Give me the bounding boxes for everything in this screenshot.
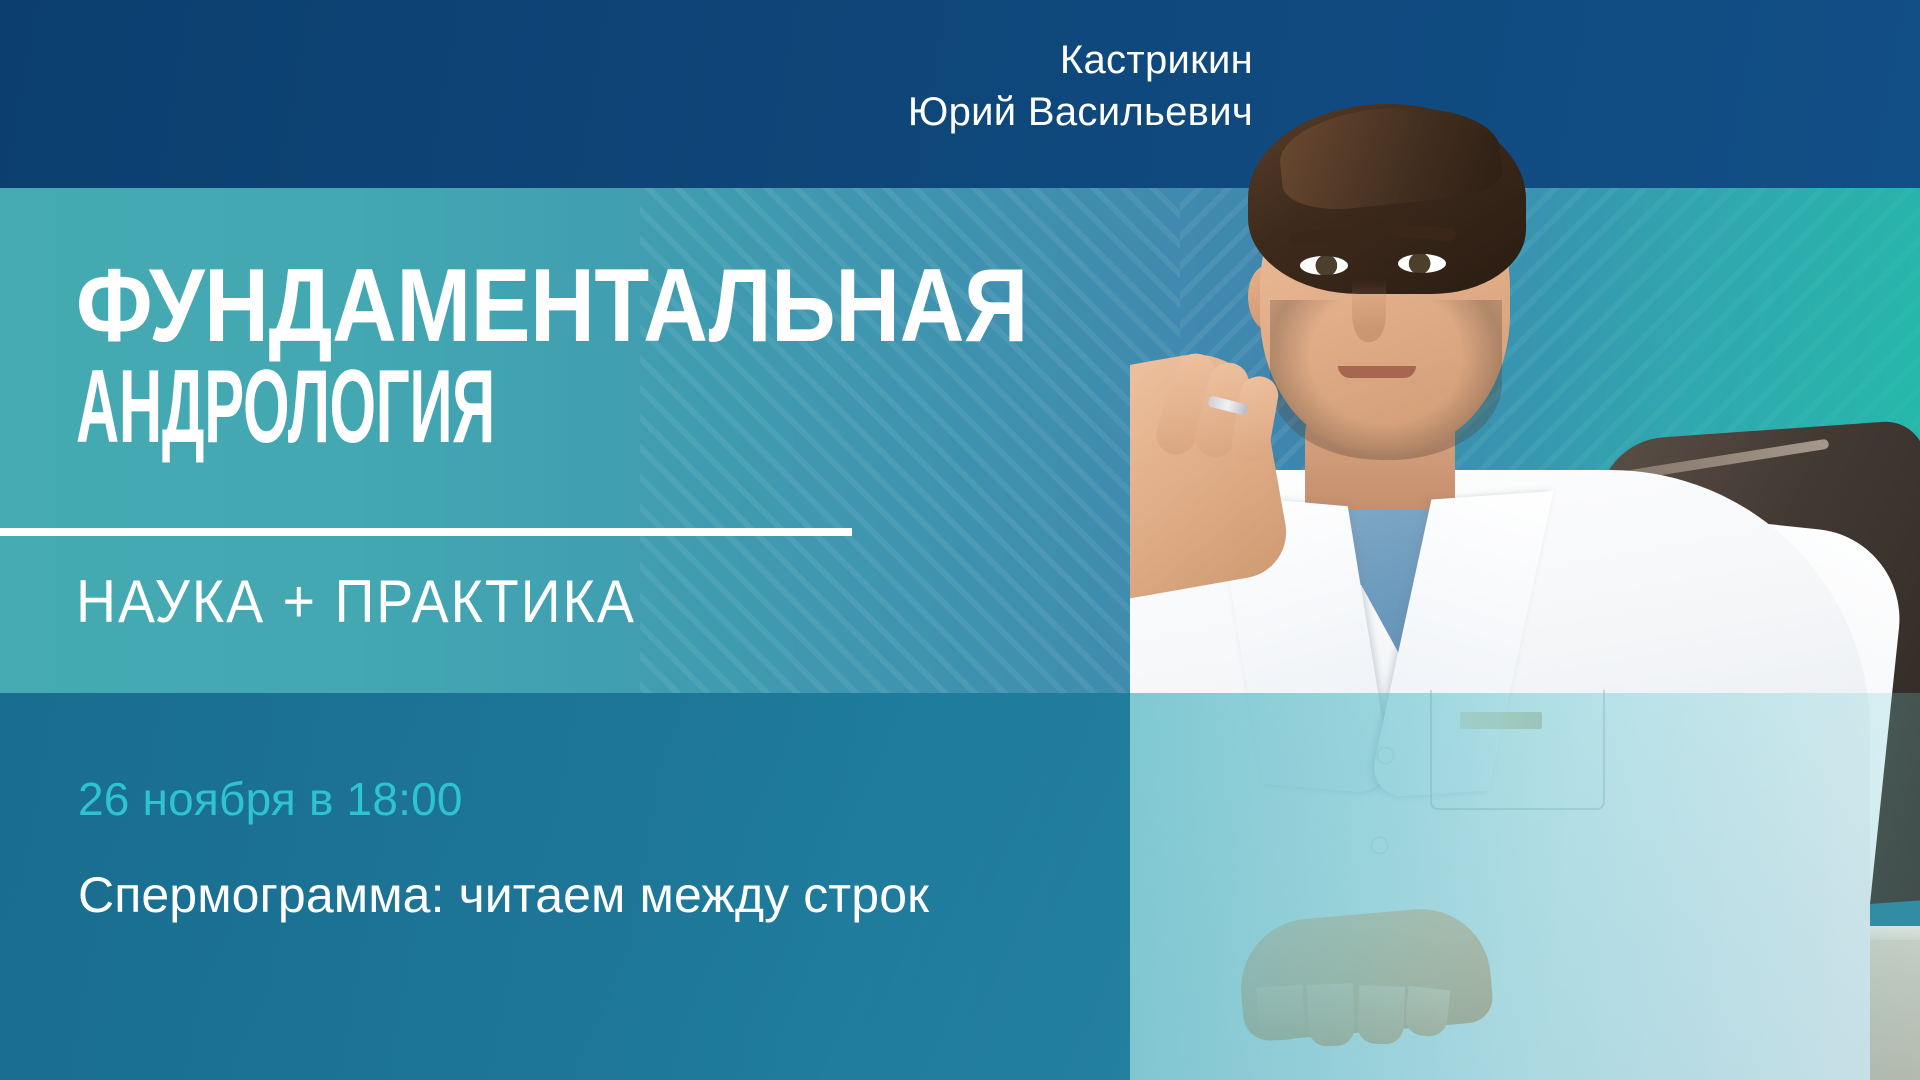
resting-finger-3 — [1357, 985, 1405, 1045]
coat-pocket — [1430, 690, 1605, 810]
name-badge — [1460, 712, 1542, 729]
speaker-name: Кастрикин Юрий Васильевич — [0, 34, 1253, 138]
webinar-announcement-poster: Кастрикин Юрий Васильевич ФУНДАМЕНТАЛЬНА… — [0, 0, 1920, 1080]
nose — [1352, 280, 1386, 342]
page-title: ФУНДАМЕНТАЛЬНАЯ АНДРОЛОГИЯ — [76, 256, 1179, 458]
eye-left — [1300, 256, 1348, 275]
title-line-2: АНДРОЛОГИЯ — [76, 357, 711, 458]
subtitle: НАУКА + ПРАКТИКА — [76, 567, 636, 636]
title-line-1: ФУНДАМЕНТАЛЬНАЯ — [76, 256, 1028, 357]
resting-finger-2 — [1307, 983, 1355, 1047]
speaker-last-name: Кастрикин — [0, 34, 1253, 86]
event-topic: Спермограмма: читаем между строк — [78, 866, 929, 924]
coat-button-upper — [1378, 748, 1393, 763]
mouth — [1338, 366, 1416, 378]
resting-finger-1 — [1256, 984, 1306, 1041]
speaker-photo — [1130, 0, 1920, 1080]
coat-button-lower — [1372, 838, 1387, 853]
title-divider-rule — [0, 528, 852, 536]
stubble-beard — [1270, 300, 1502, 460]
event-datetime: 26 ноября в 18:00 — [78, 772, 463, 826]
eye-right — [1398, 254, 1446, 273]
speaker-first-patronymic: Юрий Васильевич — [0, 86, 1253, 138]
